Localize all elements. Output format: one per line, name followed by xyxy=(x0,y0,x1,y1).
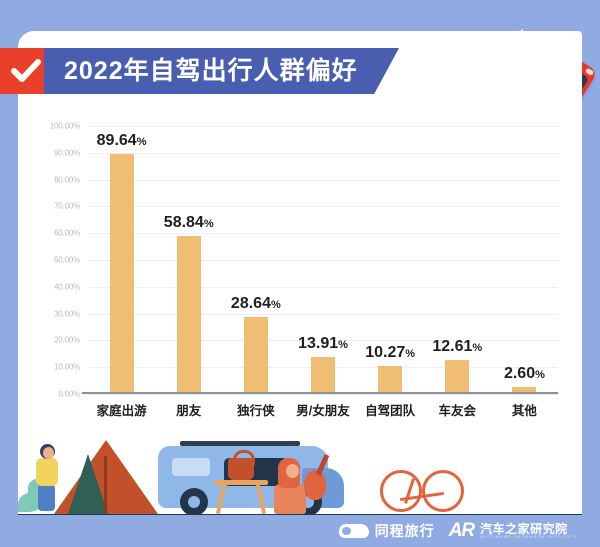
bar-value-label: 2.60% xyxy=(504,365,545,383)
y-axis-tick-label: 20.00% xyxy=(54,336,80,345)
percent-sign: % xyxy=(338,339,348,351)
bicycle-icon xyxy=(380,470,464,512)
y-axis-tick-label: 50.00% xyxy=(54,256,80,265)
bar-value: 58.84 xyxy=(164,214,204,231)
bar-chart: 0.00%10.00%20.00%30.00%40.00%50.00%60.00… xyxy=(30,118,570,418)
bar xyxy=(244,317,268,394)
y-axis-tick-label: 80.00% xyxy=(54,175,80,184)
bar-item: 13.91% xyxy=(294,126,353,394)
percent-sign: % xyxy=(137,136,147,148)
van-wheel-rear xyxy=(180,488,208,516)
car-lamp-right xyxy=(585,68,594,76)
tent-pole xyxy=(104,456,107,514)
brand1-name: 同程旅行 xyxy=(375,521,435,541)
bar-value: 10.27 xyxy=(365,344,405,361)
bar-value: 12.61 xyxy=(432,338,472,355)
bar-item: 58.84% xyxy=(159,126,218,394)
person-dress xyxy=(274,484,306,514)
y-axis-tick-label: 90.00% xyxy=(54,148,80,157)
footer-logos: 同程旅行 AR 汽车之家研究院 AUTOHOME RESEARCH INSTIT… xyxy=(339,515,578,547)
bar-value-label: 10.27% xyxy=(365,344,415,362)
y-axis-tick-label: 30.00% xyxy=(54,309,80,318)
percent-sign: % xyxy=(204,218,214,230)
autohome-name-stack: 汽车之家研究院 AUTOHOME RESEARCH INSTITUTE xyxy=(480,523,578,540)
bar-value: 2.60 xyxy=(504,365,535,382)
guitar-icon xyxy=(304,470,326,500)
page-title: 2022年自驾出行人群偏好 xyxy=(64,48,358,94)
y-axis-tick-label: 100.00% xyxy=(50,122,80,131)
bar-value: 28.64 xyxy=(231,295,271,312)
percent-sign: % xyxy=(535,369,545,381)
camp-table-icon xyxy=(214,480,268,514)
camping-illustration xyxy=(18,418,582,518)
grid-line xyxy=(88,394,558,395)
bar xyxy=(177,236,201,394)
tent-inner xyxy=(68,454,108,514)
person-face xyxy=(286,464,299,478)
bar-item: 12.61% xyxy=(428,126,487,394)
van-window-front xyxy=(172,458,210,476)
check-icon xyxy=(11,59,41,83)
percent-sign: % xyxy=(405,348,415,360)
brand-tongcheng: 同程旅行 xyxy=(339,521,435,541)
y-axis-tick-label: 10.00% xyxy=(54,363,80,372)
bar-item: 2.60% xyxy=(495,126,554,394)
bar-value: 13.91 xyxy=(298,335,338,352)
percent-sign: % xyxy=(472,342,482,354)
y-axis-tick-label: 0.00% xyxy=(58,390,80,399)
bar xyxy=(311,357,335,394)
bar-value-label: 13.91% xyxy=(298,335,348,353)
bar-item: 28.64% xyxy=(226,126,285,394)
bar-value-label: 89.64% xyxy=(97,132,147,150)
person-legs xyxy=(38,484,55,511)
footer-bar: 同程旅行 AR 汽车之家研究院 AUTOHOME RESEARCH INSTIT… xyxy=(0,515,600,547)
bar-value-label: 28.64% xyxy=(231,295,281,313)
y-axis-tick-label: 60.00% xyxy=(54,229,80,238)
y-axis-tick-label: 70.00% xyxy=(54,202,80,211)
bar xyxy=(378,366,402,394)
bar-series: 89.64%58.84%28.64%13.91%10.27%12.61%2.60… xyxy=(88,126,558,394)
picnic-basket-icon xyxy=(228,458,254,480)
van-roof-rack xyxy=(180,441,300,446)
bar-value-label: 12.61% xyxy=(432,338,482,356)
percent-sign: % xyxy=(271,299,281,311)
bar xyxy=(110,154,134,394)
bike-wheel-rear xyxy=(380,470,422,512)
bar xyxy=(445,360,469,394)
y-axis-tick-label: 40.00% xyxy=(54,282,80,291)
bar-item: 89.64% xyxy=(92,126,151,394)
bar-item: 10.27% xyxy=(361,126,420,394)
bar-value-label: 58.84% xyxy=(164,214,214,232)
person-face xyxy=(43,447,54,459)
plot-area: 0.00%10.00%20.00%30.00%40.00%50.00%60.00… xyxy=(88,126,558,394)
brand-autohome: AR 汽车之家研究院 AUTOHOME RESEARCH INSTITUTE xyxy=(449,520,578,542)
bar-value: 89.64 xyxy=(97,132,137,149)
infographic-poster: 2022年自驾出行人群偏好 0.00%10.00%20.00%30.00%40.… xyxy=(0,0,600,547)
autohome-ar-mark: AR xyxy=(449,520,474,542)
x-axis-line xyxy=(82,392,558,394)
guitar-person-icon xyxy=(274,458,308,514)
tongcheng-logo-icon xyxy=(339,524,369,538)
brand2-name-en: AUTOHOME RESEARCH INSTITUTE xyxy=(480,535,578,539)
